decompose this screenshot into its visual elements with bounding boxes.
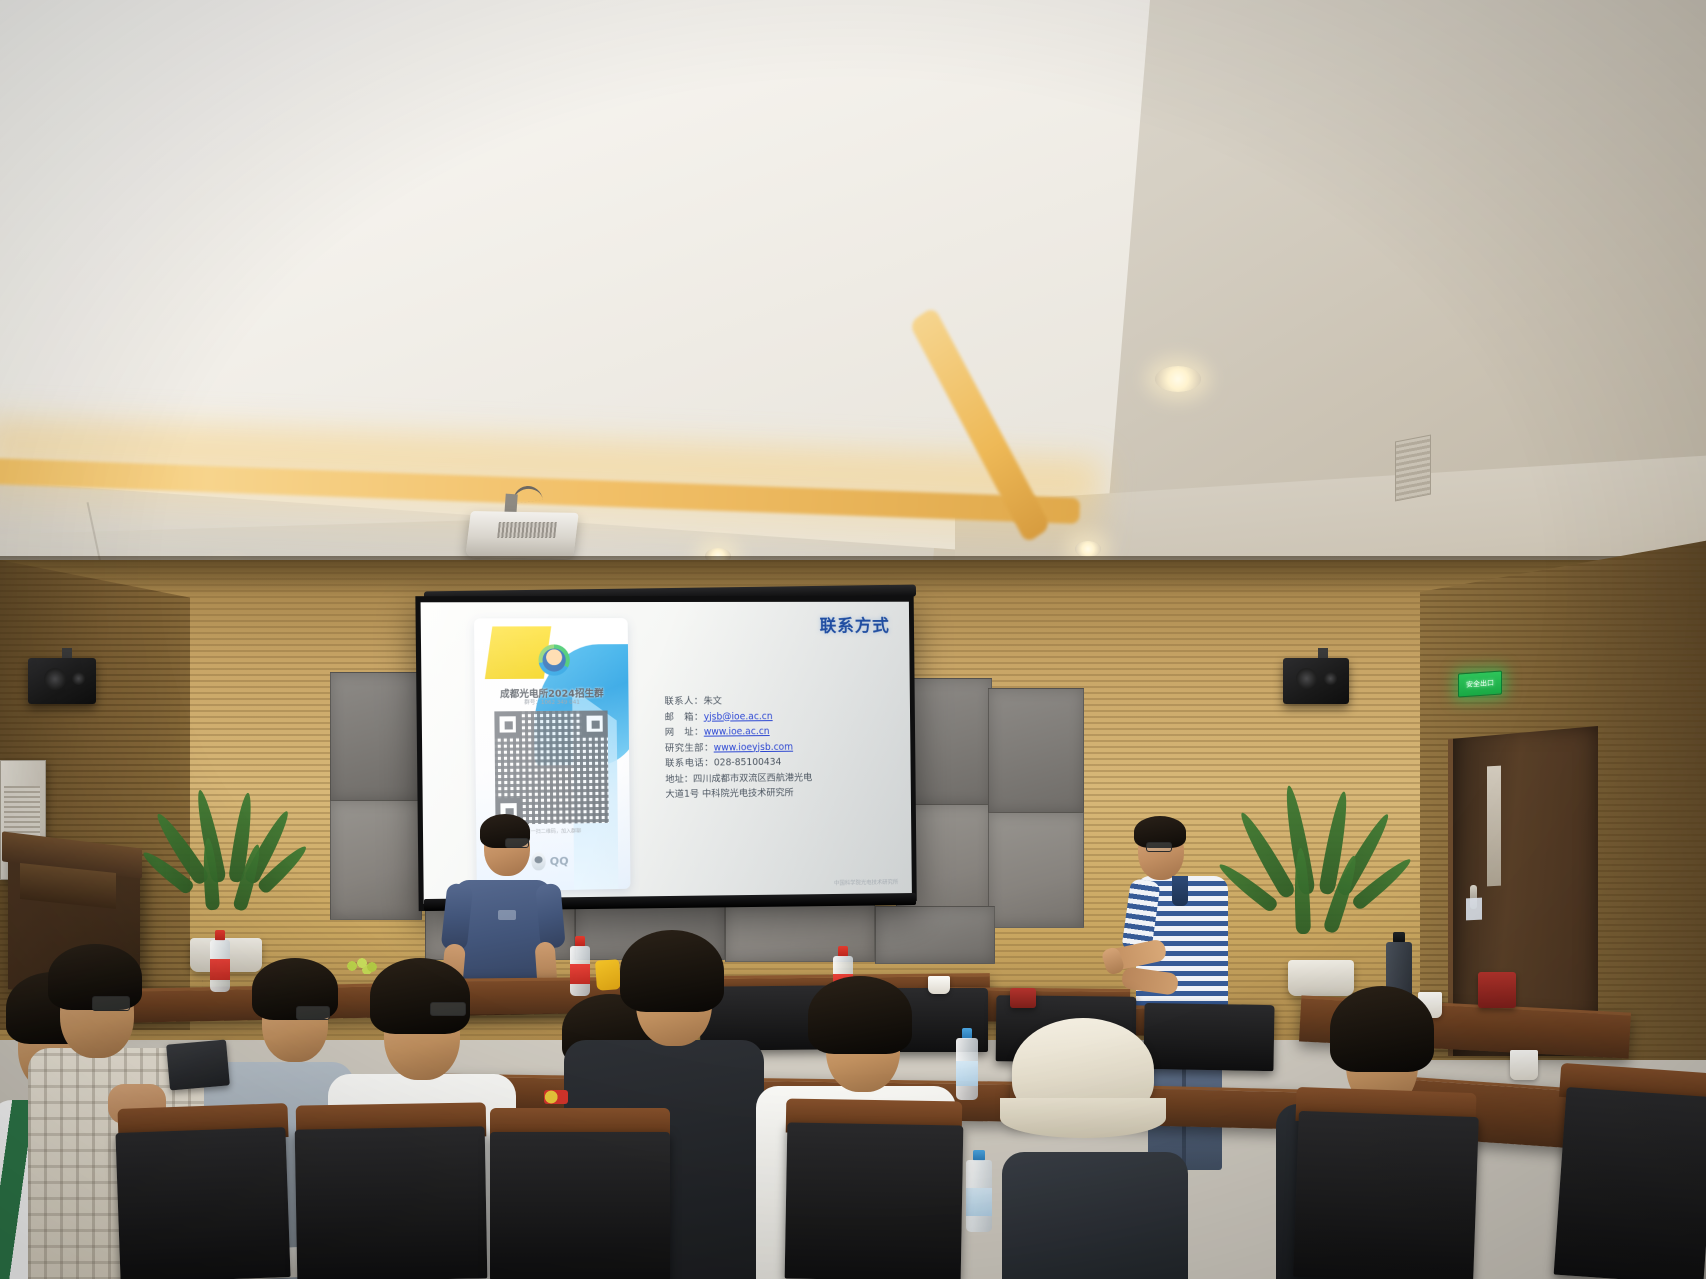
hat-brim <box>1000 1098 1166 1138</box>
contact-label: 研究生部： <box>665 742 714 753</box>
contact-label: 联系人： <box>664 696 703 707</box>
qr-finder-icon <box>581 710 607 736</box>
exit-sign-label: 安全出口 <box>1466 678 1494 690</box>
attendee-hair <box>370 958 470 1034</box>
water-bottle[interactable] <box>956 1028 978 1100</box>
qq-penguin-icon <box>531 852 545 870</box>
exit-sign: 安全出口 <box>1458 670 1502 697</box>
acoustic-panel <box>330 800 422 920</box>
bottle-label <box>570 964 590 984</box>
qr-finder-icon <box>494 711 521 737</box>
plant-pot <box>1288 960 1354 996</box>
ac-vent-grill-icon <box>4 786 40 838</box>
ceiling-downlight <box>1075 541 1101 557</box>
contact-value: 朱文 <box>703 696 722 707</box>
water-bottle[interactable] <box>210 930 230 992</box>
projector-vent-icon <box>497 522 557 538</box>
chair[interactable] <box>490 1132 670 1279</box>
paper-cup[interactable] <box>1510 1050 1538 1080</box>
door-glass-panel <box>1487 766 1501 887</box>
chair[interactable] <box>785 1122 964 1279</box>
table-number-sticker <box>544 1090 568 1104</box>
website-link[interactable]: www.ioe.ac.cn <box>704 726 770 738</box>
chair[interactable] <box>1554 1087 1706 1279</box>
polo-collar <box>1172 876 1188 906</box>
acoustic-panel <box>330 672 422 802</box>
acoustic-panel <box>988 688 1084 814</box>
email-link[interactable]: yjsb@ioe.ac.cn <box>704 711 773 723</box>
acoustic-panel <box>875 906 995 964</box>
grad-office-link[interactable]: www.ioeyjsb.com <box>714 741 794 753</box>
yellow-bag[interactable] <box>595 959 621 991</box>
group-avatar <box>538 644 570 675</box>
shirt-logo <box>498 910 516 920</box>
chair[interactable] <box>1293 1111 1479 1279</box>
attendee-hair <box>1330 986 1434 1072</box>
bottle-label <box>210 959 230 980</box>
glasses-icon <box>296 1006 330 1020</box>
qq-label: QQ <box>550 854 569 867</box>
acoustic-panel <box>988 812 1084 928</box>
paper-cup[interactable] <box>928 976 950 994</box>
door-notice-sign <box>1466 898 1482 921</box>
speaker-tweeter-icon <box>72 672 85 685</box>
glasses-icon <box>92 996 130 1011</box>
chair[interactable] <box>1143 1003 1274 1071</box>
avatar-inner <box>542 648 565 671</box>
attendee-hair <box>620 930 724 1012</box>
speaker-cone-icon <box>1296 668 1317 689</box>
qq-badge: QQ <box>531 852 568 871</box>
tablet-device[interactable] <box>166 1039 230 1090</box>
address-line-2: 大道1号 中科院光电技术研究所 <box>665 784 911 803</box>
slide-title: 联系方式 <box>820 612 890 637</box>
slide-watermark: 中国科学院光电技术研究所 <box>834 879 898 888</box>
conference-room-photo: 安全出口 联系方式 成都光电所2024招生群 群号：1062 349 041 <box>0 0 1706 1279</box>
qr-group-number: 群号：1062 349 041 <box>475 697 629 706</box>
speaker-cone-icon <box>44 668 66 690</box>
attendee-hair <box>808 976 912 1054</box>
water-bottle[interactable] <box>570 936 590 996</box>
glasses-icon <box>505 838 529 848</box>
qr-code-image <box>494 710 608 824</box>
glasses-icon <box>430 1002 466 1016</box>
ceiling-downlight <box>1155 366 1201 392</box>
contact-label: 网 址： <box>665 727 704 738</box>
contact-label: 邮 箱： <box>665 711 704 722</box>
speaker-tweeter-icon <box>1324 672 1337 685</box>
phone-value: 028-85100434 <box>714 757 782 769</box>
contact-info-block: 联系人：朱文 邮 箱：yjsb@ioe.ac.cn 网 址：www.ioe.ac… <box>664 692 910 802</box>
water-bottle[interactable] <box>966 1150 992 1232</box>
chair[interactable] <box>115 1127 290 1279</box>
glasses-icon <box>1146 842 1172 852</box>
contact-label: 联系电话： <box>665 758 714 770</box>
attendee-shirt <box>1002 1152 1188 1279</box>
red-tin-container[interactable] <box>1478 972 1516 1008</box>
grapes <box>346 956 382 974</box>
bottle-label <box>956 1061 978 1085</box>
red-tin-container[interactable] <box>1010 988 1036 1008</box>
chair[interactable] <box>295 1126 488 1279</box>
bottle-label <box>966 1188 992 1216</box>
ceiling-air-vent <box>1395 435 1431 502</box>
